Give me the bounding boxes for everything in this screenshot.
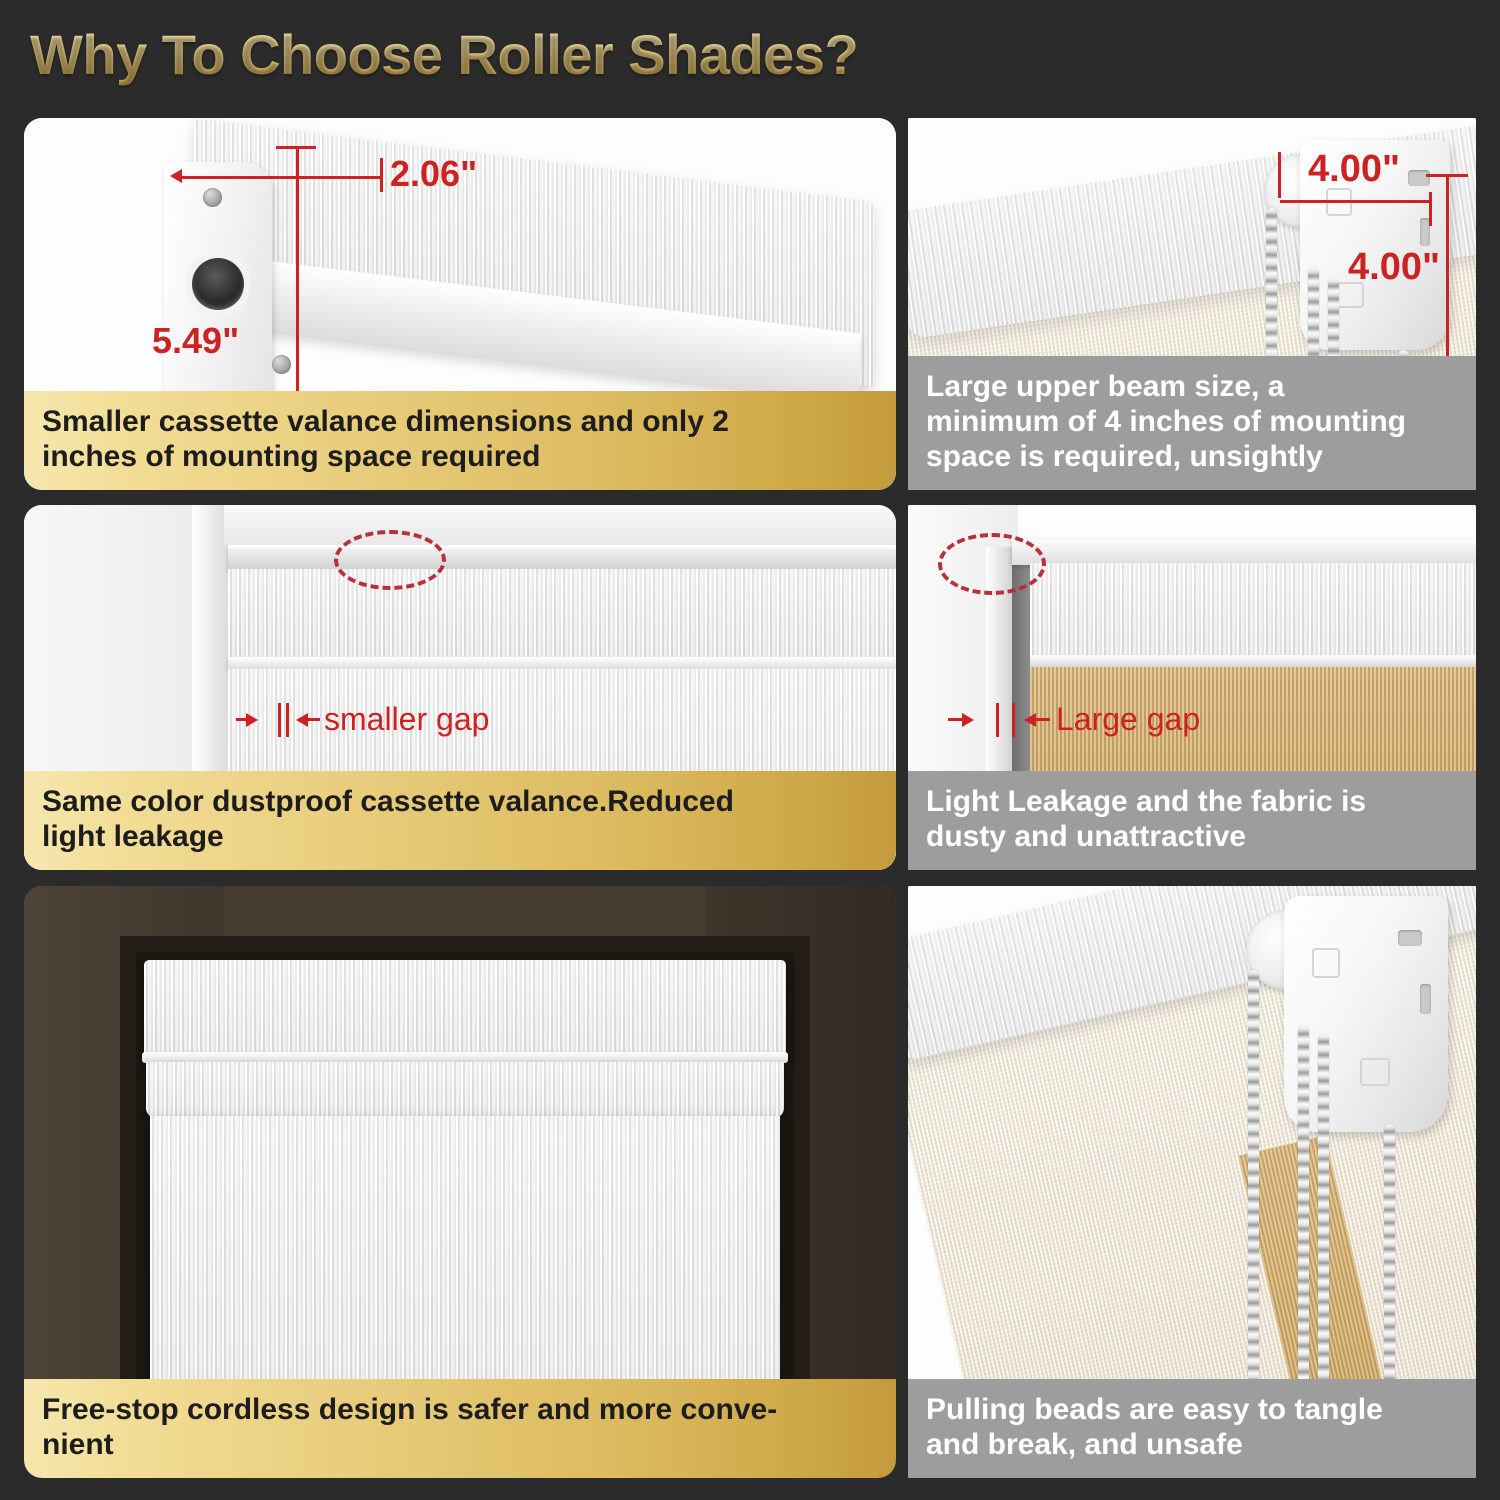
beam-width-dimension-label: 4.00" (1308, 148, 1400, 191)
beam-height-dimension-line (1446, 174, 1449, 384)
bracket-slot (1408, 170, 1430, 186)
gap-edge-marker (996, 703, 999, 737)
height-dimension-label: 5.49" (152, 320, 239, 362)
roller-top-rail (1012, 539, 1476, 565)
gap-arrow-left (1024, 713, 1036, 727)
panel-pulling-beads: Pulling beads are easy to tangle and bre… (908, 886, 1476, 1478)
caption-line: inches of mounting space required (42, 439, 878, 474)
beam-width-tick-right (1429, 192, 1432, 226)
panel-smaller-cassette: 2.06" 5.49" Smaller cassette valance dim… (24, 118, 896, 490)
caption-line: light leakage (42, 819, 878, 854)
width-dimension-line (176, 176, 382, 179)
gap-arrow-tail (948, 718, 966, 721)
width-dimension-arrow-left (170, 169, 182, 183)
tube-lower-edge (1030, 655, 1476, 667)
screw-icon (272, 355, 291, 374)
roller-tube-face (1030, 563, 1476, 659)
beam-width-dimension-line (1280, 200, 1432, 203)
height-dimension-tick-top (276, 146, 316, 149)
gap-edge-marker (278, 703, 281, 737)
panel-cordless-design: Free-stop cordless design is safer and m… (24, 886, 896, 1478)
window-frame-top (224, 505, 896, 545)
roller-socket-icon (192, 258, 244, 310)
gap-arrow-left (296, 713, 308, 727)
gap-arrow-tail (1036, 718, 1050, 721)
panel-large-beam: 4.00" 4.00" Large upper beam size, a min… (908, 118, 1476, 490)
panel-caption-pulling-beads: Pulling beads are easy to tangle and bre… (908, 1379, 1476, 1478)
caption-line: Same color dustproof cassette valance.Re… (42, 784, 878, 819)
bracket-slot (1420, 984, 1431, 1014)
caption-line: dusty and unattractive (926, 819, 1458, 854)
caption-line: nient (42, 1427, 878, 1462)
panel-caption-smaller-cassette: Smaller cassette valance dimensions and … (24, 391, 896, 490)
caption-line: Smaller cassette valance dimensions and … (42, 404, 878, 439)
caption-line: and break, and unsafe (926, 1427, 1458, 1462)
bracket-slot (1398, 930, 1422, 946)
gap-highlight-circle (938, 533, 1046, 595)
valance-face (228, 569, 896, 661)
gap-arrow-tail (236, 718, 250, 721)
beam-width-tick-left (1278, 152, 1281, 198)
width-dimension-label: 2.06" (390, 153, 477, 195)
caption-line: Large upper beam size, a (926, 369, 1458, 404)
gap-edge-marker (286, 703, 289, 737)
comparison-grid: 2.06" 5.49" Smaller cassette valance dim… (0, 0, 1500, 1500)
gap-edge-marker (1012, 703, 1015, 737)
panel-caption-cordless-design: Free-stop cordless design is safer and m… (24, 1379, 896, 1478)
bracket-emblem-icon (1360, 1058, 1390, 1086)
caption-line: Free-stop cordless design is safer and m… (42, 1392, 878, 1427)
panel-caption-large-gap: Light Leakage and the fabric is dusty an… (908, 771, 1476, 870)
beam-height-dimension-label: 4.00" (1348, 246, 1440, 289)
caption-line: minimum of 4 inches of mounting (926, 404, 1458, 439)
valance-lip (146, 1062, 784, 1118)
cassette-valance (144, 960, 786, 1060)
panel-caption-large-beam: Large upper beam size, a minimum of 4 in… (908, 356, 1476, 490)
caption-line: Light Leakage and the fabric is (926, 784, 1458, 819)
panel-smaller-gap: smaller gap Same color dustproof cassett… (24, 505, 896, 870)
caption-line: Pulling beads are easy to tangle (926, 1392, 1458, 1427)
panel-large-gap: Large gap Light Leakage and the fabric i… (908, 505, 1476, 870)
gap-arrow-tail (308, 718, 320, 721)
gap-highlight-circle (334, 530, 446, 590)
bracket-emblem-icon (1312, 948, 1340, 978)
width-dimension-tick-right (380, 158, 383, 192)
large-gap-label: Large gap (1056, 701, 1200, 738)
smaller-gap-label: smaller gap (324, 701, 489, 738)
caption-line: space is required, unsightly (926, 439, 1458, 474)
panel-caption-smaller-gap: Same color dustproof cassette valance.Re… (24, 771, 896, 870)
screw-icon (203, 188, 222, 207)
beam-height-tick-top (1426, 174, 1468, 177)
cassette-headrail (228, 549, 896, 571)
